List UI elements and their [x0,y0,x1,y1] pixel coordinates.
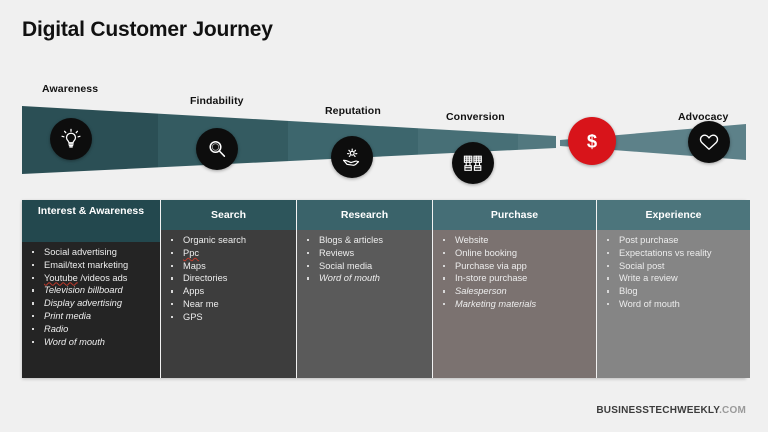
touchpoint-list: Post purchaseExpectations vs realitySoci… [605,234,746,310]
touchpoint-item: Near me [169,298,292,310]
stage-badge-findability[interactable] [196,128,238,170]
stage-badge-conversion-money[interactable]: $ [568,117,616,165]
journey-column: ExperiencePost purchaseExpectations vs r… [597,200,750,378]
stage-label-awareness: Awareness [42,83,98,95]
touchpoint-item: Display advertising [30,297,156,309]
touchpoint-item: Apps [169,285,292,297]
touchpoint-item: Social post [605,260,746,272]
stage-label-findability: Findability [190,95,244,107]
touchpoint-item: Ppc [169,247,292,259]
touchpoint-item: Website [441,234,592,246]
column-body: Blogs & articlesReviewsSocial mediaWord … [297,230,432,378]
touchpoint-item: Social media [305,260,428,272]
touchpoint-item: Word of mouth [305,272,428,284]
stage-label-conversion: Conversion [446,111,505,123]
touchpoint-item: GPS [169,311,292,323]
lightbulb-icon [59,127,83,151]
touchpoint-list: Social advertisingEmail/text marketingYo… [30,246,156,348]
touchpoint-item: Social advertising [30,246,156,258]
touchpoint-item: Radio [30,323,156,335]
touchpoint-item: Reviews [305,247,428,259]
touchpoint-list: WebsiteOnline bookingPurchase via appIn-… [441,234,592,310]
column-body: WebsiteOnline bookingPurchase via appIn-… [433,230,596,378]
column-header: Interest & Awareness [22,200,160,242]
touchpoint-item: Purchase via app [441,260,592,272]
journey-table: Interest & AwarenessSocial advertisingEm… [22,200,746,378]
journey-column: Interest & AwarenessSocial advertisingEm… [22,200,161,378]
footer-brand-tld: .COM [719,405,746,416]
column-header: Purchase [433,200,596,230]
touchpoint-item: Blogs & articles [305,234,428,246]
stage-label-reputation: Reputation [325,105,381,117]
footer-branding: BUSINESSTECHWEEKLY.COM [596,405,746,416]
touchpoint-item: Salesperson [441,285,592,297]
column-header: Search [161,200,296,230]
stage-badge-reputation[interactable] [331,136,373,178]
funnel-diagram: Awareness Findability Reputation Convers… [0,96,768,192]
footer-brand-name: BUSINESSTECHWEEKLY [596,405,719,416]
journey-column: ResearchBlogs & articlesReviewsSocial me… [297,200,433,378]
touchpoint-item: Marketing materials [441,298,592,310]
slide-canvas: Digital Customer Journey [0,0,768,432]
journey-column: PurchaseWebsiteOnline bookingPurchase vi… [433,200,597,378]
dollar-icon: $ [579,128,605,154]
page-title: Digital Customer Journey [22,18,273,42]
svg-text:$: $ [587,131,597,152]
touchpoint-item: Directories [169,272,292,284]
column-body: Post purchaseExpectations vs realitySoci… [597,230,750,378]
stage-badge-awareness[interactable] [50,118,92,160]
stage-badge-conversion[interactable] [452,142,494,184]
journey-column: SearchOrganic searchPpcMapsDirectoriesAp… [161,200,297,378]
touchpoint-item: Email/text marketing [30,259,156,271]
touchpoint-item: In-store purchase [441,272,592,284]
heart-icon [697,130,721,154]
touchpoint-item: Online booking [441,247,592,259]
funnel-shape [0,96,768,192]
touchpoint-item: Maps [169,260,292,272]
misspelled-word: Youtube [44,273,78,283]
touchpoint-item: Word of mouth [605,298,746,310]
touchpoint-item: Post purchase [605,234,746,246]
touchpoint-item: Youtube /videos ads [30,272,156,284]
column-body: Organic searchPpcMapsDirectoriesAppsNear… [161,230,296,378]
magnifier-icon [205,137,229,161]
touchpoint-item: Expectations vs reality [605,247,746,259]
touchpoint-item: Word of mouth [30,336,156,348]
touchpoint-item: Write a review [605,272,746,284]
touchpoint-list: Blogs & articlesReviewsSocial mediaWord … [305,234,428,285]
stage-badge-advocacy[interactable] [688,121,730,163]
column-body: Social advertisingEmail/text marketingYo… [22,242,160,378]
touchpoint-item: Print media [30,310,156,322]
touchpoint-list: Organic searchPpcMapsDirectoriesAppsNear… [169,234,292,323]
storefront-icon [461,151,485,175]
touchpoint-item: Organic search [169,234,292,246]
touchpoint-item: Television billboard [30,284,156,296]
column-header: Research [297,200,432,230]
hand-care-icon [340,145,364,169]
column-header: Experience [597,200,750,230]
touchpoint-item: Blog [605,285,746,297]
misspelled-word: Ppc [183,248,199,258]
